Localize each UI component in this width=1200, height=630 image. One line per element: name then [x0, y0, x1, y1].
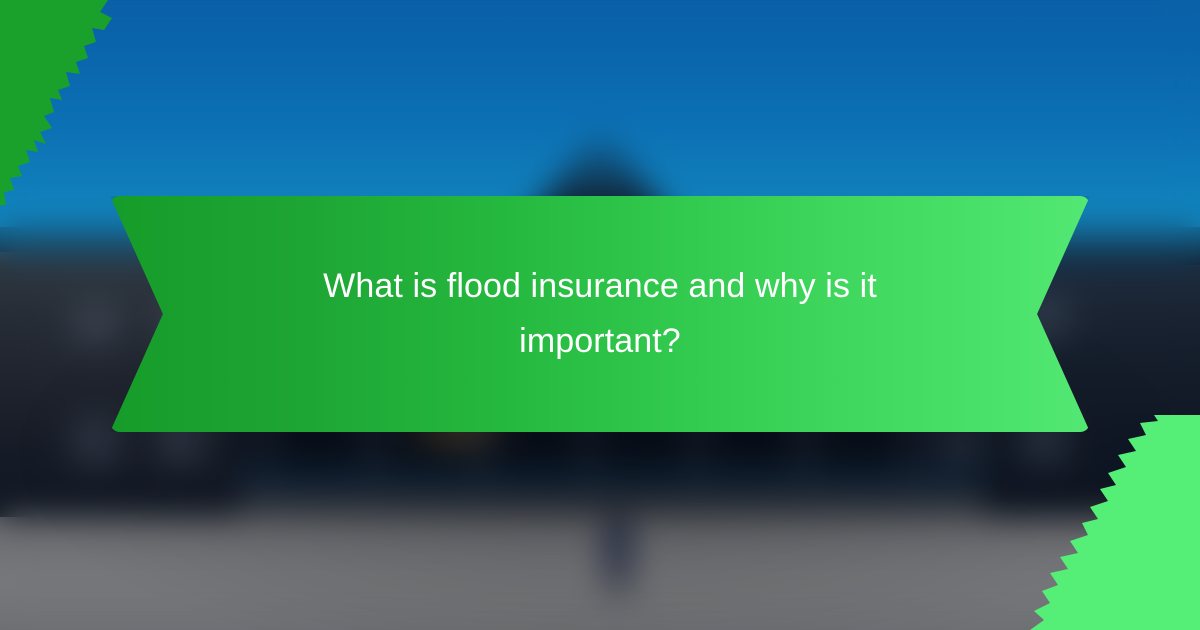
headline-text-block: What is flood insurance and why is it im…	[110, 196, 1090, 432]
hero-card: What is flood insurance and why is it im…	[0, 0, 1200, 630]
headline-line-1: What is flood insurance and why is it	[323, 259, 877, 314]
headline-banner: What is flood insurance and why is it im…	[110, 196, 1090, 432]
headline-line-2: important?	[519, 314, 681, 369]
